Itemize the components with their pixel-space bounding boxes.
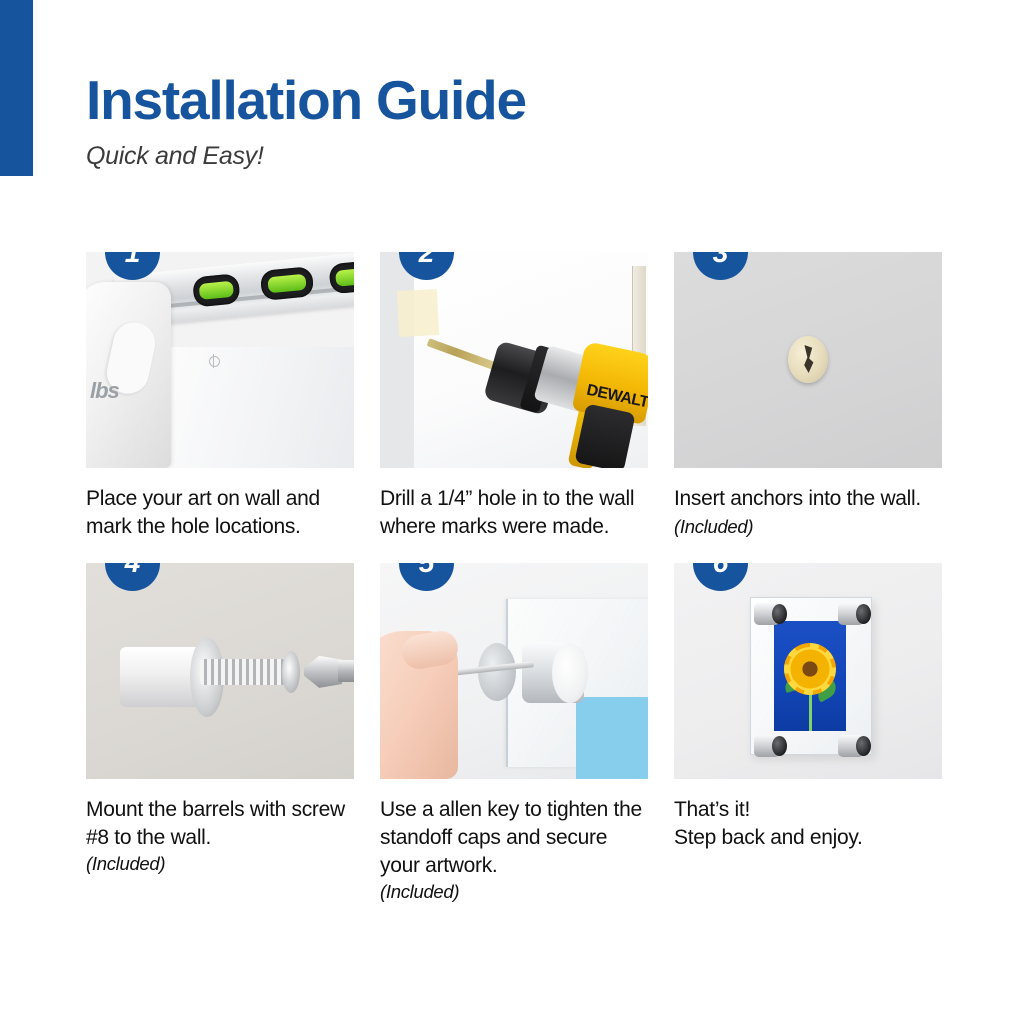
level-vial-left <box>192 273 241 307</box>
wall-anchor <box>788 336 828 383</box>
step-badge-4: 4 <box>105 563 160 591</box>
step-6-photo: 6 <box>674 563 942 779</box>
step-2-photo: DEWALT 2 <box>380 252 648 468</box>
step-5-caption-text: Use a allen key to tighten the standoff … <box>380 798 642 877</box>
sunflower-center <box>788 647 832 691</box>
screwdriver-shaft <box>338 660 354 682</box>
art-panel <box>156 347 354 468</box>
step-1-photo: lbs 1 <box>86 252 354 468</box>
step-6-caption-line2: Step back and enjoy. <box>674 824 942 852</box>
step-badge-3: 3 <box>693 252 748 280</box>
standoff-top-right <box>838 603 864 625</box>
step-3-caption: Insert anchors into the wall. (Included) <box>674 485 942 541</box>
step-4-photo: 4 <box>86 563 354 779</box>
standoff-cap-face <box>552 643 588 703</box>
step-card-5: 5 Use a allen key to tighten the standof… <box>380 563 648 904</box>
work-glove: lbs <box>86 282 171 468</box>
step-card-3: 3 Insert anchors into the wall. (Include… <box>674 252 942 541</box>
standoff-bottom-right <box>838 735 864 757</box>
step-6-caption: That’s it!Step back and enjoy. <box>674 796 942 852</box>
standoff-bottom-left <box>754 735 780 757</box>
anchor-slot <box>802 345 814 373</box>
page-subtitle: Quick and Easy! <box>86 142 786 171</box>
screwdriver-tip <box>304 656 342 688</box>
glove-logo: lbs <box>90 378 119 404</box>
steps-grid: lbs 1 Place your art on wall and mark th… <box>86 252 942 904</box>
pencil-mark <box>209 356 220 367</box>
step-3-included-note: (Included) <box>674 516 753 537</box>
step-2-caption: Drill a 1/4” hole in to the wall where m… <box>380 485 648 541</box>
step-5-photo: 5 <box>380 563 648 779</box>
sunflower-artwork <box>774 621 846 731</box>
step-card-6: 6 That’s it!Step back and enjoy. <box>674 563 942 904</box>
step-badge-5: 5 <box>399 563 454 591</box>
level-vial-center <box>260 266 315 301</box>
step-5-caption: Use a allen key to tighten the standoff … <box>380 796 648 904</box>
step-3-photo: 3 <box>674 252 942 468</box>
header-accent-bar <box>0 0 33 176</box>
artwork-print-area <box>576 697 648 779</box>
step-1-caption: Place your art on wall and mark the hole… <box>86 485 354 541</box>
step-card-2: DEWALT 2 Drill a 1/4” hole in to the wal… <box>380 252 648 541</box>
page-title: Installation Guide <box>86 72 786 130</box>
step-card-4: 4 Mount the barrels with screw #8 to the… <box>86 563 354 904</box>
standoff-top-left <box>754 603 780 625</box>
step-5-included-note: (Included) <box>380 880 648 905</box>
step-4-included-note: (Included) <box>86 852 354 877</box>
masking-tape <box>397 289 439 337</box>
standoff-barrel <box>120 647 198 707</box>
step-card-1: lbs 1 Place your art on wall and mark th… <box>86 252 354 541</box>
step-4-caption-text: Mount the barrels with screw #8 to the w… <box>86 798 345 849</box>
step-4-caption: Mount the barrels with screw #8 to the w… <box>86 796 354 876</box>
step-3-caption-line1: Insert anchors into the <box>674 487 875 510</box>
screw-head <box>282 651 300 693</box>
screw-thread <box>200 659 286 685</box>
step-6-caption-line1: That’s it! <box>674 798 750 821</box>
step-3-caption-line2: wall. <box>880 487 921 510</box>
header: Installation Guide Quick and Easy! <box>86 72 786 171</box>
step-badge-6: 6 <box>693 563 748 591</box>
